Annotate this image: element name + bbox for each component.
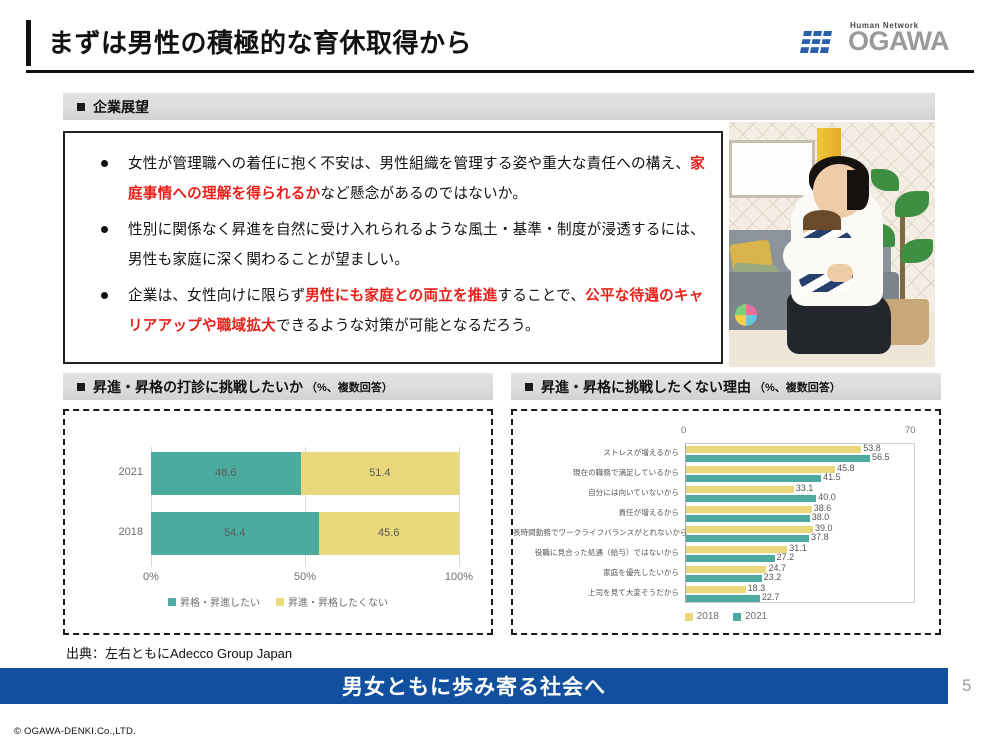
right-chart-legend-item[interactable]: 2018 bbox=[685, 611, 719, 622]
right-chart-bar bbox=[686, 575, 762, 582]
bullet-text-run: 企業は、女性向けに限らず bbox=[128, 288, 305, 304]
right-chart-value-label: 38.0 bbox=[812, 512, 830, 522]
section-header-left-chart: 昇進・昇格の打診に挑戦したいか （%、複数回答） bbox=[63, 373, 493, 400]
left-chart-x-tick: 0% bbox=[143, 571, 159, 583]
right-chart-value-label: 27.2 bbox=[777, 552, 795, 562]
right-chart-bar bbox=[686, 486, 794, 493]
right-chart-bar bbox=[686, 546, 787, 553]
left-chart-category-label: 2018 bbox=[105, 526, 143, 538]
left-chart-gridline bbox=[459, 447, 460, 567]
right-chart-unit: （%、複数回答） bbox=[754, 379, 841, 395]
chart-promotion-willingness: 202148.651.4201854.445.60%50%100%昇格・昇進した… bbox=[63, 409, 493, 635]
outlook-bullet-text: 性別に関係なく昇進を自然に受け入れられるような風土・基準・制度が浸透するには、男… bbox=[128, 215, 705, 275]
right-chart-category-label: 自分には向いていないから bbox=[513, 487, 679, 498]
right-chart-category-label: 上司を見て大変そうだから bbox=[513, 587, 679, 598]
left-chart-unit: （%、複数回答） bbox=[306, 379, 393, 395]
bullet-text-run: など懸念があるのではないか。 bbox=[320, 186, 527, 202]
outlook-bullet-list: 女性が管理職への着任に抱く不安は、男性組織を管理する姿や重大な責任への構え、家庭… bbox=[83, 149, 705, 347]
bullet-text-run: することで、 bbox=[497, 288, 585, 304]
right-chart-bar bbox=[686, 506, 812, 513]
photo-baby-hair bbox=[803, 210, 841, 230]
right-chart-legend-label: 2018 bbox=[697, 611, 719, 622]
bullet-dot-icon bbox=[101, 226, 108, 233]
photo-father-hand bbox=[827, 264, 853, 282]
title-underline bbox=[26, 70, 974, 73]
photo-father-hair-side bbox=[847, 170, 869, 210]
left-chart-bar-segment: 45.6 bbox=[319, 512, 459, 555]
bottom-banner: 男女ともに歩み寄る社会へ bbox=[0, 668, 948, 704]
page-number: 5 bbox=[962, 676, 971, 696]
right-chart-category-label: 役職に見合った処遇（給与）ではないから bbox=[513, 547, 679, 558]
legend-swatch-icon bbox=[276, 598, 284, 606]
ogawa-logo: Human Network OGAWA bbox=[800, 24, 975, 58]
outlook-text-box: 女性が管理職への着任に抱く不安は、男性組織を管理する姿や重大な責任への構え、家庭… bbox=[63, 131, 723, 364]
right-chart-category-label: 家庭を優先したいから bbox=[513, 567, 679, 578]
right-chart-bar bbox=[686, 446, 861, 453]
right-chart-value-label: 22.7 bbox=[762, 592, 780, 602]
right-chart-category-label: 責任が増えるから bbox=[513, 507, 679, 518]
legend-swatch-icon bbox=[733, 613, 741, 621]
left-chart-canvas: 202148.651.4201854.445.60%50%100%昇格・昇進した… bbox=[65, 411, 491, 633]
left-chart-legend-label: 昇進・昇格したくない bbox=[288, 594, 388, 609]
right-chart-category-label: 長時間勤務でワークライフバランスがとれないから bbox=[513, 527, 679, 538]
right-chart-category-label: ストレスが増えるから bbox=[513, 447, 679, 458]
right-chart-value-label: 33.1 bbox=[796, 483, 814, 493]
logo-brand: OGAWA bbox=[848, 28, 949, 55]
outlook-bullet-item: 女性が管理職への着任に抱く不安は、男性組織を管理する姿や重大な責任への構え、家庭… bbox=[83, 149, 705, 209]
bullet-dot-icon bbox=[101, 160, 108, 167]
slide-root: まずは男性の積極的な育休取得から Human Network OGAWA 企業展… bbox=[0, 0, 1000, 750]
logo-mark-icon bbox=[800, 29, 844, 55]
right-chart-value-label: 37.8 bbox=[811, 532, 829, 542]
left-chart-x-tick: 100% bbox=[445, 571, 473, 583]
right-chart-canvas: 070ストレスが増えるから53.856.5現在の職務で満足しているから45.84… bbox=[513, 411, 939, 633]
right-chart-legend: 20182021 bbox=[513, 611, 939, 622]
right-chart-bar bbox=[686, 555, 775, 562]
left-chart-bar-segment: 48.6 bbox=[151, 452, 301, 495]
section-header-outlook: 企業展望 bbox=[63, 93, 935, 120]
left-chart-legend: 昇格・昇進したい昇進・昇格したくない bbox=[65, 594, 491, 609]
outlook-bullet-text: 企業は、女性向けに限らず男性にも家庭との両立を推進することで、公平な待遇のキャリ… bbox=[128, 281, 705, 341]
right-chart-value-label: 41.5 bbox=[823, 472, 841, 482]
legend-swatch-icon bbox=[168, 598, 176, 606]
right-chart-value-label: 56.5 bbox=[872, 452, 890, 462]
right-chart-bar bbox=[686, 595, 760, 602]
bullet-text-run: 性別に関係なく昇進を自然に受け入れられるような風土・基準・制度が浸透するには、男… bbox=[128, 222, 705, 268]
right-chart-value-label: 40.0 bbox=[818, 492, 836, 502]
right-chart-bar bbox=[686, 455, 870, 462]
right-chart-bar bbox=[686, 495, 816, 502]
left-chart-title: 昇進・昇格の打診に挑戦したいか bbox=[93, 377, 303, 397]
right-chart-legend-label: 2021 bbox=[745, 611, 767, 622]
bullet-text-run: 女性が管理職への着任に抱く不安は、男性組織を管理する姿や重大な責任への構え、 bbox=[128, 156, 690, 172]
left-chart-category-label: 2021 bbox=[105, 466, 143, 478]
right-chart-title: 昇進・昇格に挑戦したくない理由 bbox=[541, 377, 751, 397]
right-chart-legend-item[interactable]: 2021 bbox=[733, 611, 767, 622]
section-header-outlook-label: 企業展望 bbox=[93, 97, 149, 117]
bottom-banner-label: 男女ともに歩み寄る社会へ bbox=[342, 671, 606, 701]
right-chart-x-tick: 0 bbox=[681, 425, 686, 436]
right-chart-bar bbox=[686, 566, 766, 573]
photo-window bbox=[729, 140, 815, 198]
bullet-text-run: できるような対策が可能となるだろう。 bbox=[276, 318, 540, 334]
source-note: 出典：左右ともにAdecco Group Japan bbox=[66, 643, 292, 662]
left-chart-legend-item[interactable]: 昇格・昇進したい bbox=[168, 594, 260, 609]
left-chart-legend-item[interactable]: 昇進・昇格したくない bbox=[276, 594, 388, 609]
right-chart-value-label: 23.2 bbox=[764, 572, 782, 582]
left-chart-bar-segment: 54.4 bbox=[151, 512, 319, 555]
right-chart-bar bbox=[686, 535, 809, 542]
outlook-bullet-item: 企業は、女性向けに限らず男性にも家庭との両立を推進することで、公平な待遇のキャリ… bbox=[83, 281, 705, 341]
page-title: まずは男性の積極的な育休取得から bbox=[48, 22, 472, 64]
left-chart-x-tick: 50% bbox=[294, 571, 316, 583]
bullet-square-icon bbox=[77, 103, 85, 111]
outlook-bullet-text: 女性が管理職への着任に抱く不安は、男性組織を管理する姿や重大な責任への構え、家庭… bbox=[128, 149, 705, 209]
left-chart-bar-segment: 51.4 bbox=[301, 452, 459, 495]
bullet-dot-icon bbox=[101, 292, 108, 299]
section-header-right-chart: 昇進・昇格に挑戦したくない理由 （%、複数回答） bbox=[511, 373, 941, 400]
left-chart-legend-label: 昇格・昇進したい bbox=[180, 594, 260, 609]
family-photo bbox=[729, 122, 935, 367]
right-chart-bar bbox=[686, 515, 810, 522]
outlook-bullet-item: 性別に関係なく昇進を自然に受け入れられるような風土・基準・制度が浸透するには、男… bbox=[83, 215, 705, 275]
title-accent-bar bbox=[26, 20, 31, 66]
right-chart-x-tick: 70 bbox=[905, 425, 916, 436]
copyright-notice: © OGAWA-DENKI.Co.,LTD. bbox=[14, 726, 136, 737]
bullet-square-icon bbox=[77, 383, 85, 391]
legend-swatch-icon bbox=[685, 613, 693, 621]
chart-reasons-not-to-challenge: 070ストレスが増えるから53.856.5現在の職務で満足しているから45.84… bbox=[511, 409, 941, 635]
right-chart-bar bbox=[686, 526, 813, 533]
bullet-square-icon bbox=[525, 383, 533, 391]
highlighted-phrase: 男性にも家庭との両立を推進 bbox=[305, 288, 497, 304]
right-chart-bar bbox=[686, 586, 746, 593]
right-chart-bar bbox=[686, 475, 821, 482]
right-chart-bar bbox=[686, 466, 835, 473]
right-chart-category-label: 現在の職務で満足しているから bbox=[513, 467, 679, 478]
photo-toy bbox=[735, 304, 757, 326]
